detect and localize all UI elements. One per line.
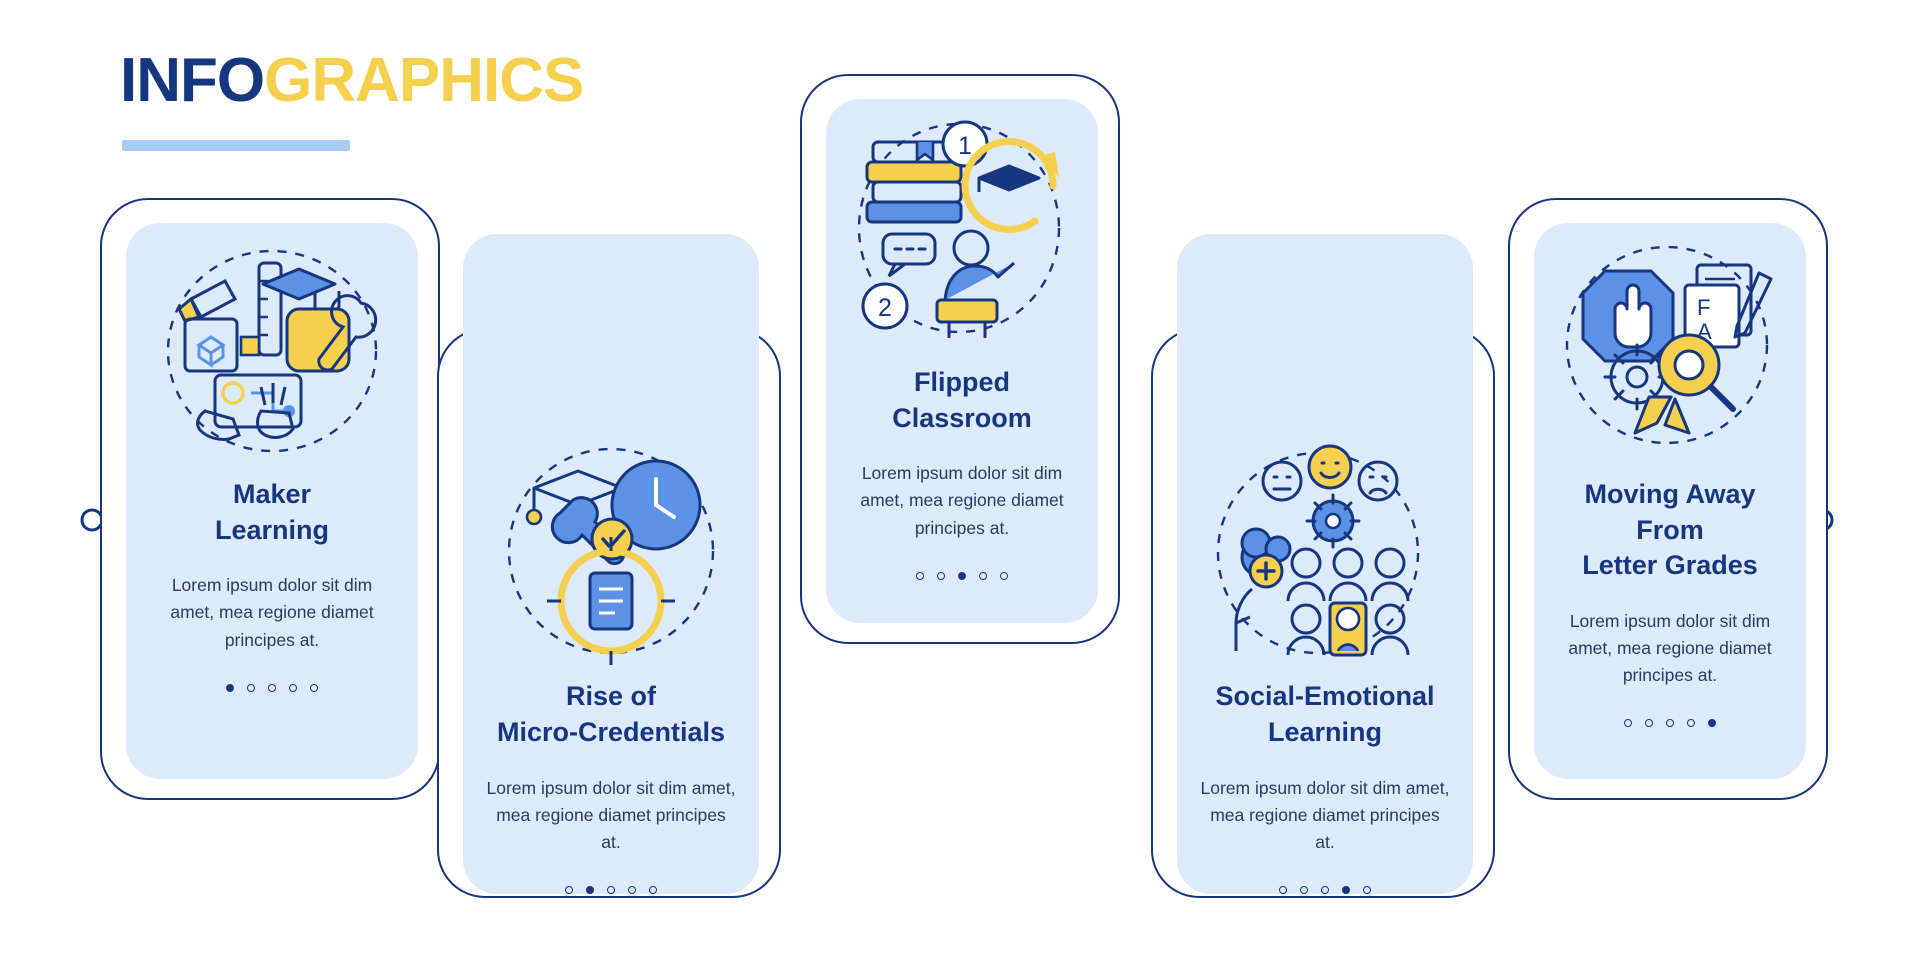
step-dot[interactable] (247, 684, 255, 692)
svg-text:F: F (1697, 295, 1710, 320)
card-body: Lorem ipsum dolor sit dim amet, mea regi… (1534, 608, 1806, 689)
card-body: Lorem ipsum dolor sit dim amet, mea regi… (463, 775, 759, 856)
step-dots[interactable] (463, 886, 759, 894)
step-dot[interactable] (916, 572, 924, 580)
step-dots[interactable] (126, 684, 418, 692)
step-dot[interactable] (1687, 719, 1695, 727)
step-dot[interactable] (1342, 886, 1350, 894)
card-inner-rise-of-micro-credentials: Rise of Micro-Credentials Lorem ipsum do… (463, 234, 759, 894)
step-dot[interactable] (1645, 719, 1653, 727)
step-dot[interactable] (1279, 886, 1287, 894)
card-rise-of-micro-credentials[interactable]: Rise of Micro-Credentials Lorem ipsum do… (437, 328, 781, 898)
card-inner-maker-learning: Maker Learning Lorem ipsum dolor sit dim… (126, 223, 418, 779)
stop-hand-grades-icon: F A (1534, 223, 1806, 473)
step-dot[interactable] (628, 886, 636, 894)
step-dot[interactable] (310, 684, 318, 692)
card-body: Lorem ipsum dolor sit dim amet, mea regi… (126, 572, 418, 653)
step-dot[interactable] (979, 572, 987, 580)
books-teacher-icon: 1 2 (826, 99, 1098, 361)
step-dot[interactable] (607, 886, 615, 894)
step-dot[interactable] (1666, 719, 1674, 727)
step-dot[interactable] (565, 886, 573, 894)
step-dots[interactable] (1177, 886, 1473, 894)
step-dot[interactable] (268, 684, 276, 692)
step-dot[interactable] (289, 684, 297, 692)
card-moving-away-from-letter-grades[interactable]: F A Moving Away From Letter Grades (1508, 198, 1828, 800)
card-inner-social-emotional-learning: Social-Emotional Learning Lorem ipsum do… (1177, 234, 1473, 894)
step-dot[interactable] (937, 572, 945, 580)
step-dot[interactable] (586, 886, 594, 894)
step-dot[interactable] (649, 886, 657, 894)
page-title: INFOGRAPHICS (120, 45, 583, 116)
step-dots[interactable] (826, 572, 1098, 580)
card-title: Maker Learning (126, 477, 418, 548)
svg-text:2: 2 (878, 294, 892, 322)
step-dot[interactable] (958, 572, 966, 580)
step-dot[interactable] (1624, 719, 1632, 727)
graduation-clock-icon (463, 433, 759, 673)
step-dots[interactable] (1534, 719, 1806, 727)
svg-text:1: 1 (958, 132, 972, 160)
step-dot[interactable] (1300, 886, 1308, 894)
card-maker-learning[interactable]: Maker Learning Lorem ipsum dolor sit dim… (100, 198, 440, 800)
page-title-part2: GRAPHICS (264, 46, 583, 115)
card-title: Flipped Classroom (826, 365, 1098, 436)
step-dot[interactable] (1321, 886, 1329, 894)
title-underline (122, 140, 350, 151)
step-dot[interactable] (1708, 719, 1716, 727)
infographic-canvas: INFOGRAPHICS (0, 0, 1914, 980)
card-title: Social-Emotional Learning (1177, 679, 1473, 750)
maker-tools-icon (126, 223, 418, 473)
card-flipped-classroom[interactable]: 1 2 (800, 74, 1120, 644)
step-dot[interactable] (1000, 572, 1008, 580)
emotions-people-icon (1177, 433, 1473, 673)
card-title: Rise of Micro-Credentials (463, 679, 759, 750)
step-dot[interactable] (226, 684, 234, 692)
card-social-emotional-learning[interactable]: Social-Emotional Learning Lorem ipsum do… (1151, 328, 1495, 898)
page-title-part1: INFO (120, 46, 264, 115)
card-inner-flipped-classroom: 1 2 (826, 99, 1098, 623)
card-body: Lorem ipsum dolor sit dim amet, mea regi… (1177, 775, 1473, 856)
step-dot[interactable] (1363, 886, 1371, 894)
card-inner-moving-away-from-letter-grades: F A Moving Away From Letter Grades (1534, 223, 1806, 779)
card-body: Lorem ipsum dolor sit dim amet, mea regi… (826, 460, 1098, 541)
card-title: Moving Away From Letter Grades (1534, 477, 1806, 584)
